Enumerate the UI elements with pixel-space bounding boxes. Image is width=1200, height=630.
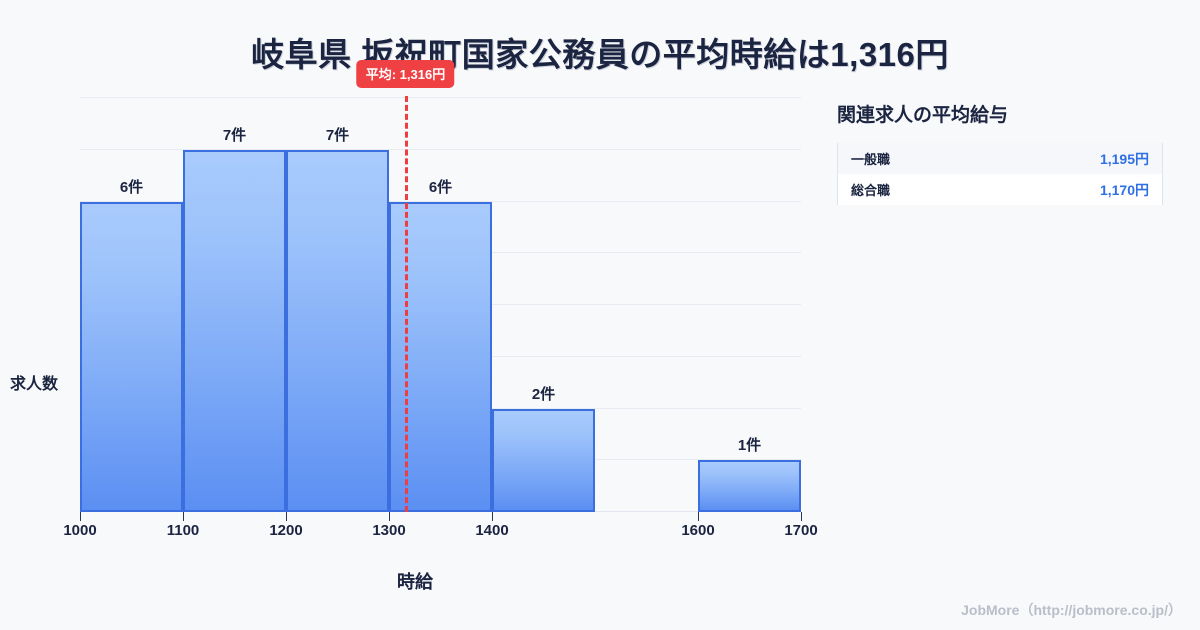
x-axis-tick [389,512,390,521]
salary-table-row: 総合職1,170円 [838,174,1162,205]
average-badge: 平均: 1,316円 [357,60,454,88]
salary-row-label: 総合職 [851,180,890,199]
x-axis-tick [801,512,802,521]
x-axis-tick [698,512,699,521]
salary-row-label: 一般職 [851,149,890,168]
histogram-bar[interactable] [389,202,492,513]
x-axis-tick-label: 1700 [761,522,841,539]
related-salary-table: 一般職1,195円総合職1,170円 [837,143,1163,205]
histogram-bar[interactable] [80,202,183,513]
bar-value-label: 7件 [183,124,286,145]
x-axis-tick-label: 1600 [658,522,738,539]
x-axis-title: 時給 [0,568,830,594]
x-axis-tick-label: 1100 [143,522,223,539]
footer-credit: JobMore（http://jobmore.co.jp/） [961,600,1182,620]
histogram-bar[interactable] [492,409,595,513]
salary-table-row: 一般職1,195円 [838,143,1162,174]
x-axis-tick [80,512,81,521]
gridline [80,97,801,98]
average-line [405,96,408,512]
x-axis-tick [492,512,493,521]
plot-area: 6件7件7件6件2件1件1000110012001300140016001700… [80,98,801,512]
bar-value-label: 6件 [80,176,183,197]
histogram-chart: 求人数 6件7件7件6件2件1件100011001200130014001600… [0,90,830,535]
x-axis-tick-label: 1400 [452,522,532,539]
histogram-bar[interactable] [286,150,389,512]
page-title: 岐阜県 坂祝町国家公務員の平均時給は1,316円 [0,28,1200,76]
related-salary-title: 関連求人の平均給与 [837,100,1167,127]
x-axis-tick-label: 1000 [40,522,120,539]
bar-value-label: 1件 [698,434,801,455]
salary-row-value: 1,170円 [1100,180,1149,200]
histogram-bar[interactable] [183,150,286,512]
y-axis-title: 求人数 [10,370,58,394]
bar-value-label: 6件 [389,176,492,197]
x-axis-tick-label: 1200 [246,522,326,539]
histogram-bar[interactable] [698,460,801,512]
x-axis-tick-label: 1300 [349,522,429,539]
salary-row-value: 1,195円 [1100,149,1149,169]
x-axis-tick [183,512,184,521]
bar-value-label: 7件 [286,124,389,145]
related-salary-panel: 関連求人の平均給与 一般職1,195円総合職1,170円 [837,100,1167,205]
x-axis-tick [286,512,287,521]
bar-value-label: 2件 [492,383,595,404]
